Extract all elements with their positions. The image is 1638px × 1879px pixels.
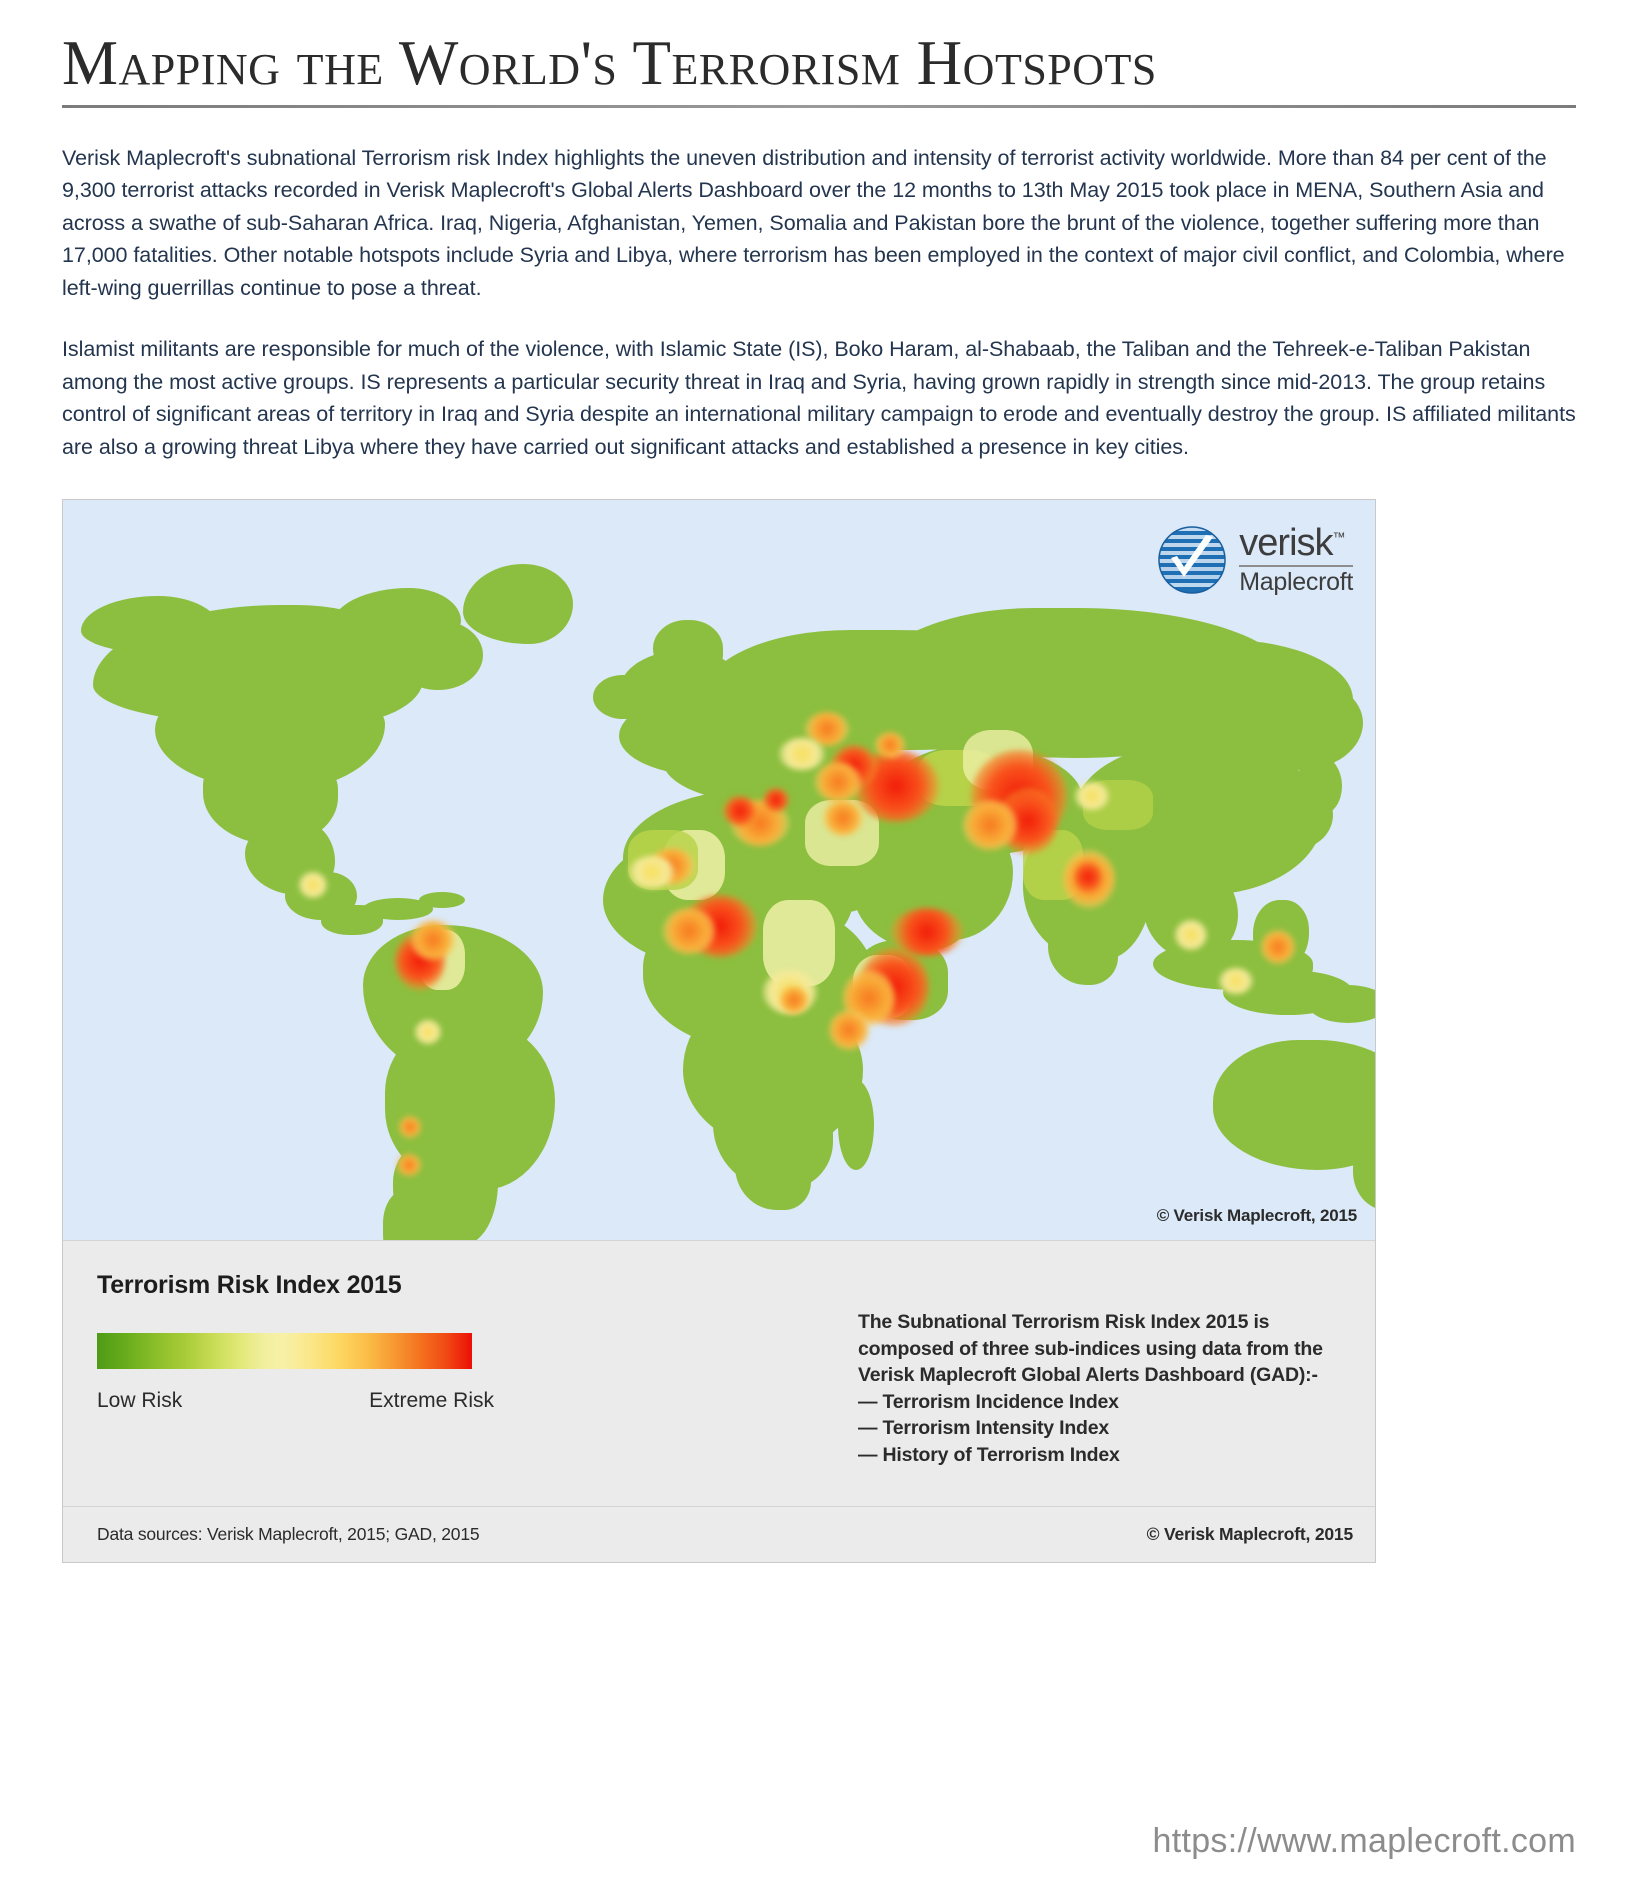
legend-low-label: Low Risk (97, 1389, 182, 1413)
paragraph-2: Islamist militants are responsible for m… (62, 333, 1576, 463)
logo-sub-text: Maplecroft (1239, 569, 1353, 597)
page-header: Mapping the World's Terrorism Hotspots (0, 0, 1638, 97)
verisk-maplecroft-logo: verisk™ Maplecroft (1157, 524, 1353, 596)
legend-note-intro: The Subnational Terrorism Risk Index 201… (858, 1309, 1338, 1389)
legend-title: Terrorism Risk Index 2015 (97, 1271, 1341, 1300)
legend-high-label: Extreme Risk (369, 1389, 494, 1413)
trademark-icon: ™ (1333, 530, 1345, 545)
legend-note-item-1: — Terrorism Intensity Index (858, 1415, 1338, 1442)
website-url[interactable]: https://www.maplecroft.com (1153, 1822, 1577, 1861)
footer-copyright: © Verisk Maplecroft, 2015 (1147, 1524, 1353, 1545)
world-risk-map[interactable]: verisk™ Maplecroft © Verisk Maplecroft, … (63, 500, 1375, 1240)
map-copyright: © Verisk Maplecroft, 2015 (1157, 1206, 1357, 1226)
map-panel: verisk™ Maplecroft © Verisk Maplecroft, … (62, 499, 1376, 1563)
article-body: Verisk Maplecroft's subnational Terroris… (0, 108, 1638, 464)
logo-divider (1239, 565, 1353, 567)
hotspot-kenya (829, 1010, 869, 1050)
legend-scale-labels: Low Risk Extreme Risk (97, 1389, 472, 1413)
hotspot-yemen (891, 908, 963, 956)
legend-note-item-0: — Terrorism Incidence Index (858, 1389, 1338, 1416)
legend-description: The Subnational Terrorism Risk Index 201… (858, 1309, 1338, 1468)
risk-gradient-bar (97, 1333, 472, 1369)
logo-brand-text: verisk™ (1239, 524, 1344, 562)
legend-note-item-2: — History of Terrorism Index (858, 1442, 1338, 1469)
data-sources-label: Data sources: Verisk Maplecroft, 2015; G… (97, 1524, 479, 1545)
paragraph-1: Verisk Maplecroft's subnational Terroris… (62, 142, 1576, 305)
page-title: Mapping the World's Terrorism Hotspots (62, 30, 1576, 97)
legend-section: Terrorism Risk Index 2015 Low Risk Extre… (63, 1240, 1375, 1562)
legend-footer: Data sources: Verisk Maplecroft, 2015; G… (63, 1506, 1375, 1562)
infographic-page: Mapping the World's Terrorism Hotspots V… (0, 0, 1638, 1879)
verisk-globe-check-icon (1157, 525, 1227, 595)
